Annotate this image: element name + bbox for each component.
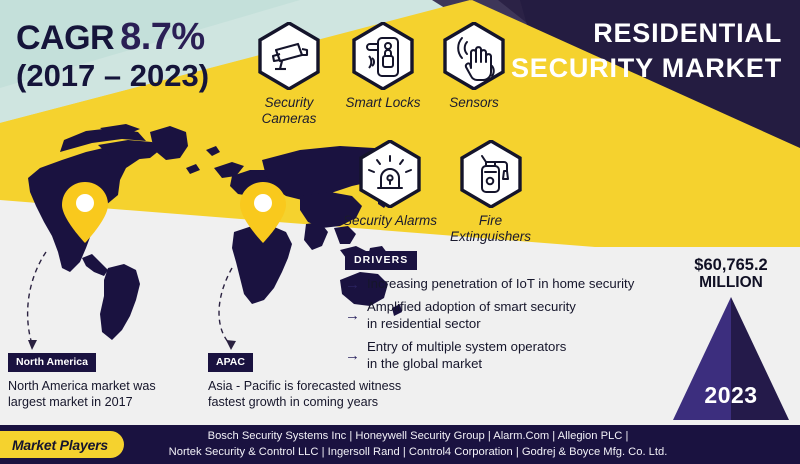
feature-sensors: Sensors <box>424 22 524 111</box>
driver-item: → Increasing penetration of IoT in home … <box>345 276 675 293</box>
cagr-value: 8.7% <box>120 16 205 58</box>
driver-text: Amplified adoption of smart security in … <box>367 299 576 333</box>
cagr-headline: CAGR8.7% <box>16 18 256 56</box>
smart-lock-icon <box>352 22 414 90</box>
market-value-year: 2023 <box>672 382 790 409</box>
region-text: North America market was largest market … <box>8 378 156 411</box>
title-line-2: SECURITY MARKET <box>511 51 782 86</box>
region-callout-apac: APAC Asia - Pacific is forecasted witnes… <box>208 352 401 411</box>
title-line-1: RESIDENTIAL <box>511 16 782 51</box>
cagr-period: (2017 – 2023) <box>16 58 256 94</box>
feature-label: Security Alarms <box>335 213 445 229</box>
feature-security-alarms: Security Alarms <box>335 140 445 229</box>
page-title: RESIDENTIAL SECURITY MARKET <box>511 16 782 85</box>
region-callout-north-america: North America North America market was l… <box>8 352 156 411</box>
market-players-label: Market Players <box>0 437 108 453</box>
market-value-block: $60,765.2 MILLION <box>672 256 790 292</box>
driver-item: → Amplified adoption of smart security i… <box>345 299 675 333</box>
market-players-list: Bosch Security Systems Inc | Honeywell S… <box>148 429 688 461</box>
motion-sensor-hand-icon <box>443 22 505 90</box>
feature-label: Sensors <box>424 95 524 111</box>
feature-smart-locks: Smart Locks <box>333 22 433 111</box>
cagr-block: CAGR8.7% (2017 – 2023) <box>16 18 256 94</box>
market-players-pill: Market Players <box>0 431 124 458</box>
arrow-right-icon: → <box>345 308 367 323</box>
footer-bar: Market Players Bosch Security Systems In… <box>0 425 800 464</box>
drivers-badge: DRIVERS <box>345 251 417 270</box>
feature-label: Smart Locks <box>333 95 433 111</box>
market-value-unit: MILLION <box>672 274 790 292</box>
security-camera-icon <box>258 22 320 90</box>
feature-label: Security Cameras <box>239 95 339 126</box>
region-badge: North America <box>8 353 96 372</box>
cagr-label: CAGR <box>16 19 114 57</box>
market-players-line-2: Nortek Security & Control LLC | Ingersol… <box>148 445 688 461</box>
arrow-right-icon: → <box>345 277 367 292</box>
fire-extinguisher-icon <box>460 140 522 208</box>
market-players-line-1: Bosch Security Systems Inc | Honeywell S… <box>148 429 688 445</box>
region-text: Asia - Pacific is forecasted witness fas… <box>208 378 401 411</box>
feature-security-cameras: Security Cameras <box>239 22 339 126</box>
market-value-amount: $60,765.2 <box>672 256 790 274</box>
infographic-root: CAGR8.7% (2017 – 2023) RESIDENTIAL SECUR… <box>0 0 800 464</box>
region-badge: APAC <box>208 353 253 372</box>
alarm-siren-icon <box>359 140 421 208</box>
feature-label: Fire Extinguishers <box>438 213 543 244</box>
feature-fire-extinguishers: Fire Extinguishers <box>438 140 543 244</box>
driver-text: Increasing penetration of IoT in home se… <box>367 276 634 293</box>
